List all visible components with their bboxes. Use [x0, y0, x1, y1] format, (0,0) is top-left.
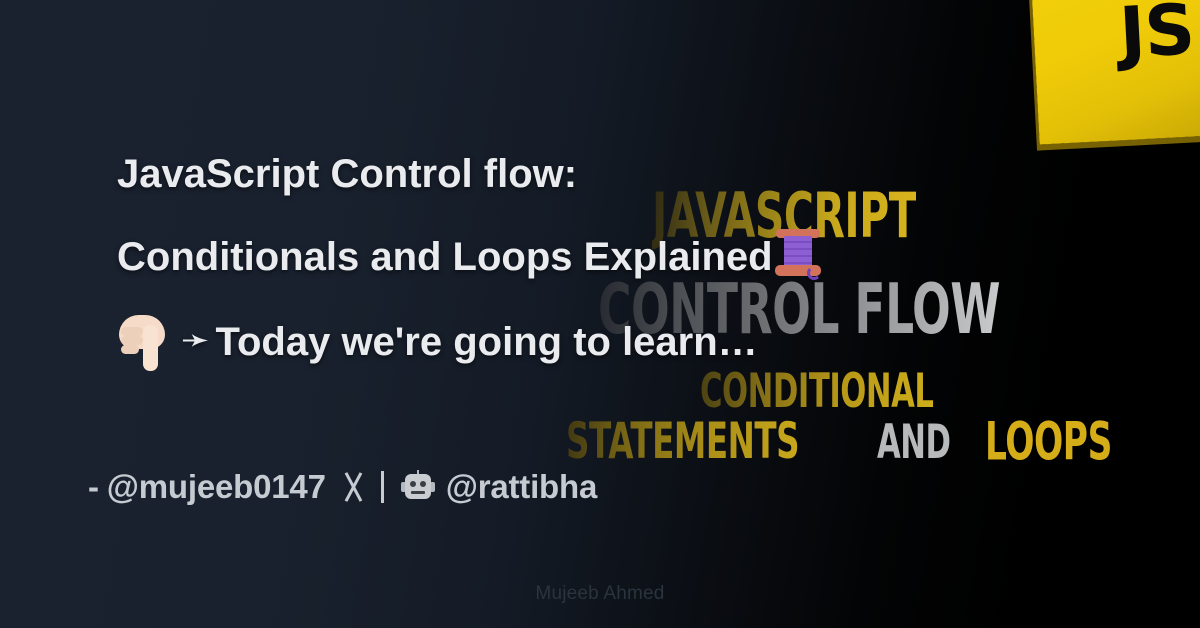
javascript-logo-icon: JS	[1031, 0, 1200, 145]
author-handle[interactable]: @mujeeb0147	[107, 468, 326, 506]
tweet-line-3: ➛Today we're going to learn…	[117, 299, 1127, 384]
attribution-row: - @mujeeb0147 @rattibha	[88, 468, 597, 506]
pointing-down-hand-icon	[117, 311, 171, 373]
x-logo-icon	[339, 473, 367, 501]
bg-word-statements: STATEMENTS	[566, 414, 799, 471]
tweet-share-card: JAVASCRIPT CONTROL FLOW CONDITIONAL STAT…	[0, 0, 1200, 628]
tweet-line-2-text: Conditionals and Loops Explained	[117, 235, 773, 279]
attribution-separator	[381, 471, 384, 503]
tweet-line-3-text: Today we're going to learn…	[216, 320, 758, 364]
source-handle[interactable]: @rattibha	[446, 468, 597, 506]
double-arrow-icon: ➛	[181, 299, 210, 382]
bg-word-and: AND	[877, 414, 951, 469]
attribution-dash: -	[88, 468, 99, 506]
tweet-line-1-text: JavaScript Control flow:	[117, 152, 577, 196]
javascript-logo-label: JS	[1118, 0, 1196, 68]
tweet-text-block: JavaScript Control flow: Conditionals an…	[117, 133, 1127, 384]
tweet-line-2: Conditionals and Loops Explained	[117, 216, 1127, 299]
watermark: Mujeeb Ahmed	[0, 583, 1200, 605]
robot-icon	[401, 473, 435, 501]
bg-word-loops: LOOPS	[985, 411, 1112, 472]
tweet-line-1: JavaScript Control flow:	[117, 133, 1127, 216]
thread-spool-icon	[775, 226, 821, 282]
